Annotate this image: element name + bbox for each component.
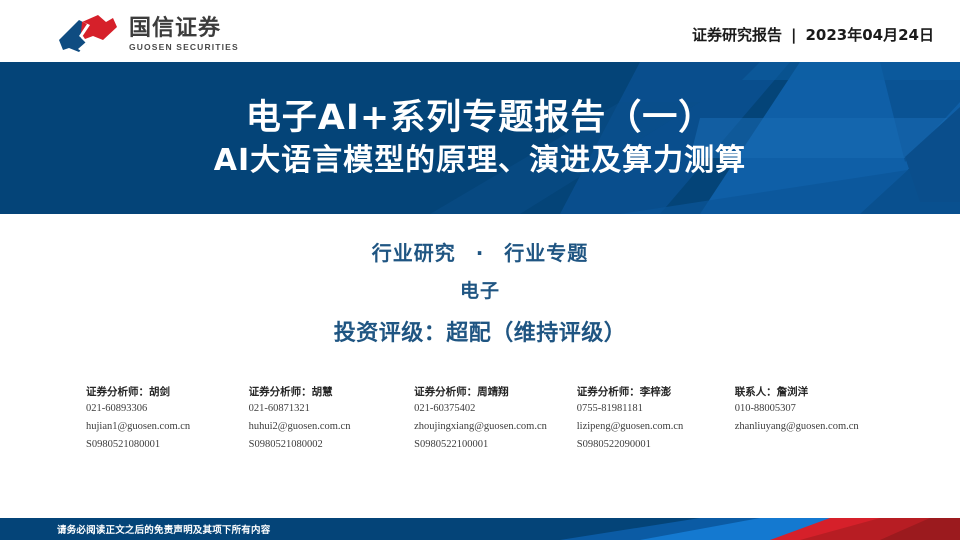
category-dot-separator: · bbox=[476, 238, 485, 268]
analyst-contact-list: 证券分析师：胡剑 021-60893306 hujian1@guosen.com… bbox=[86, 384, 886, 453]
report-type-label: 证券研究报告 bbox=[692, 24, 782, 45]
report-date: 2023年04月24日 bbox=[806, 24, 935, 45]
analyst-name: 证券分析师：周靖翔 bbox=[414, 384, 577, 400]
report-title: 电子AI+系列专题报告（一） bbox=[246, 97, 714, 140]
analyst-name: 证券分析师：李梓澎 bbox=[577, 384, 735, 400]
research-category-left: 行业研究 bbox=[372, 241, 456, 265]
page-header: 国信证券 GUOSEN SECURITIES 证券研究报告 | 2023年04月… bbox=[0, 0, 960, 62]
logo-chinese-name: 国信证券 bbox=[129, 17, 239, 40]
analyst-email[interactable]: hujian1@guosen.com.cn bbox=[86, 418, 249, 436]
investment-rating: 投资评级：超配（维持评级） bbox=[0, 317, 960, 350]
analyst-name: 证券分析师：胡慧 bbox=[249, 384, 414, 400]
guosen-logo: 国信证券 GUOSEN SECURITIES bbox=[57, 13, 239, 55]
industry-name: 电子 bbox=[0, 277, 960, 306]
report-subtitle: AI大语言模型的原理、演进及算力测算 bbox=[214, 143, 746, 180]
logo-wordmark: 国信证券 GUOSEN SECURITIES bbox=[129, 16, 239, 52]
title-banner: 电子AI+系列专题报告（一） AI大语言模型的原理、演进及算力测算 bbox=[0, 62, 960, 214]
header-report-meta: 证券研究报告 | 2023年04月24日 bbox=[692, 24, 934, 45]
report-meta-block: 行业研究 · 行业专题 电子 投资评级：超配（维持评级） bbox=[0, 238, 960, 350]
analyst-block: 证券分析师：周靖翔 021-60375402 zhoujingxiang@guo… bbox=[414, 384, 577, 453]
contact-phone: 010-88005307 bbox=[735, 400, 886, 418]
analyst-phone: 021-60375402 bbox=[414, 400, 577, 418]
contact-email[interactable]: zhanliuyang@guosen.com.cn bbox=[735, 418, 886, 436]
page-footer: 请务必阅读正文之后的免责声明及其项下所有内容 bbox=[0, 518, 960, 540]
logo-english-name: GUOSEN SECURITIES bbox=[129, 42, 239, 52]
analyst-license-code: S0980521080002 bbox=[249, 436, 414, 454]
research-category-line: 行业研究 · 行业专题 bbox=[0, 238, 960, 268]
analyst-email[interactable]: zhoujingxiang@guosen.com.cn bbox=[414, 418, 577, 436]
analyst-phone: 021-60871321 bbox=[249, 400, 414, 418]
research-category-right: 行业专题 bbox=[504, 241, 588, 265]
analyst-block: 证券分析师：胡慧 021-60871321 huhui2@guosen.com.… bbox=[249, 384, 414, 453]
analyst-name: 证券分析师：胡剑 bbox=[86, 384, 249, 400]
analyst-license-code: S0980522090001 bbox=[577, 436, 735, 454]
analyst-block: 证券分析师：胡剑 021-60893306 hujian1@guosen.com… bbox=[86, 384, 249, 453]
footer-disclaimer: 请务必阅读正文之后的免责声明及其项下所有内容 bbox=[57, 518, 270, 540]
analyst-phone: 021-60893306 bbox=[86, 400, 249, 418]
analyst-license-code: S0980521080001 bbox=[86, 436, 249, 454]
analyst-email[interactable]: lizipeng@guosen.com.cn bbox=[577, 418, 735, 436]
report-cover-page: 国信证券 GUOSEN SECURITIES 证券研究报告 | 2023年04月… bbox=[0, 0, 960, 540]
header-separator: | bbox=[791, 26, 796, 44]
guosen-logo-mark bbox=[57, 13, 119, 55]
analyst-email[interactable]: huhui2@guosen.com.cn bbox=[249, 418, 414, 436]
contact-block: 联系人：詹浏洋 010-88005307 zhanliuyang@guosen.… bbox=[735, 384, 886, 436]
contact-name: 联系人：詹浏洋 bbox=[735, 384, 886, 400]
analyst-phone: 0755-81981181 bbox=[577, 400, 735, 418]
analyst-block: 证券分析师：李梓澎 0755-81981181 lizipeng@guosen.… bbox=[577, 384, 735, 453]
analyst-license-code: S0980522100001 bbox=[414, 436, 577, 454]
banner-text-block: 电子AI+系列专题报告（一） AI大语言模型的原理、演进及算力测算 bbox=[0, 62, 960, 214]
